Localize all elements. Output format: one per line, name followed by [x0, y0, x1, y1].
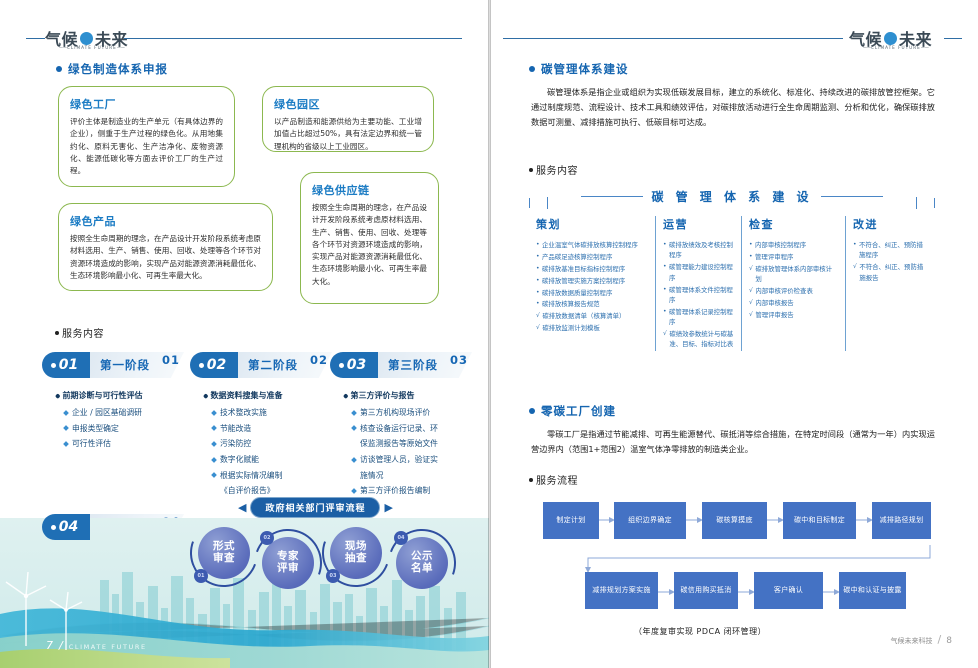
section-title-zero-carbon: 零碳工厂创建 [529, 403, 616, 419]
stage-ghost-number: 01 [162, 353, 180, 367]
cm-item-list: •不符合、纠正、预防措施程序 √不符合、纠正、预防措施报告 [853, 240, 928, 283]
list-item: •碳管理体系记录控制程序 [663, 307, 734, 328]
list-item: •碳排放核算报告规范 [536, 299, 648, 309]
page-left: 气候 未来 CLIMATE FUTURE 绿色制造体系申报 绿色工厂 评价主体是… [0, 0, 489, 668]
bullet-dot-icon [529, 408, 535, 414]
stage-01: 01 第一阶段 01 前期诊断与可行性评估 企业 / 园区基础调研 申报类型确定… [42, 352, 182, 454]
cm-item-list: •企业温室气体碳排放核算控制程序 •产品碳足迹核算控制程序 •碳排放基准目标指标… [536, 240, 648, 334]
carbon-mgmt-system-table: 碳 管 理 体 系 建 设 策划 •企业温室气体碳排放核算控制程序 •产品碳足迹… [529, 188, 935, 351]
flow-box[interactable]: 减排规划方案实施 [585, 572, 658, 609]
stage-lead: 数据资料搜集与准备 [190, 390, 330, 402]
cm-column-operate: 运营 •碳排放绩效及考核控制程序 •碳管理能力建设控制程序 •碳管理体系文件控制… [655, 216, 741, 351]
list-item: 核查设备运行记录、环 [330, 423, 475, 435]
diamond-icon [211, 472, 217, 478]
dot-icon [51, 363, 56, 368]
dot-icon [199, 363, 204, 368]
diamond-icon [351, 488, 357, 494]
stage-lead: 前期诊断与可行性评估 [42, 390, 182, 402]
stage-name: 第三阶段 [388, 357, 438, 373]
footer-left: 7 / CLIMATE FUTURE [46, 639, 147, 652]
header-rule-right-b [944, 38, 962, 39]
list-item: 第三方机构现场评价 [330, 407, 475, 419]
list-item: 节能改造 [190, 423, 330, 435]
leaf-pin-icon [80, 32, 93, 45]
stage-item-list: 数据资料搜集与准备 技术整改实施 节能改造 污染防控 数字化赋能 根据实际情况编… [190, 390, 330, 497]
card-title: 绿色供应链 [312, 182, 427, 198]
bullet-dot-icon [529, 168, 533, 172]
bullet-dot-icon [529, 66, 535, 72]
list-item: √碳排放监测计划模板 [536, 323, 648, 333]
card-body: 以产品制造和能源供给为主要功能、工业增加值占比超过50%，具有法定边界和统一管理… [274, 116, 422, 153]
section-title-green-manufacturing: 绿色制造体系申报 [56, 61, 168, 77]
intro-paragraph-zero-carbon: 零碳工厂是指通过节能减排、可再生能源替代、碳抵消等综合措施，在特定时间段（通常为… [531, 427, 935, 457]
stage-lead: 第三方评价与报告 [330, 390, 475, 402]
cm-column-plan: 策划 •企业温室气体碳排放核算控制程序 •产品碳足迹核算控制程序 •碳排放基准目… [529, 216, 655, 351]
stage-ghost-number: 02 [310, 353, 328, 367]
list-item: 保监测报告等原始文件 [330, 438, 475, 450]
bullet-dot-icon [55, 331, 59, 335]
stage-lead-text: 第三方评价与报告 [351, 390, 415, 402]
diamond-icon [63, 441, 69, 447]
cm-column-head: 检查 [749, 216, 838, 232]
stage-name: 第二阶段 [248, 357, 298, 373]
brochure-spread: 气候 未来 CLIMATE FUTURE 绿色制造体系申报 绿色工厂 评价主体是… [0, 0, 978, 668]
list-item: 技术整改实施 [190, 407, 330, 419]
stage-lead-text: 数据资料搜集与准备 [211, 390, 283, 402]
list-item: •不符合、纠正、预防措施程序 [853, 240, 928, 261]
stage-number: 04 [59, 519, 78, 535]
list-item: •碳管理能力建设控制程序 [663, 262, 734, 283]
list-item: •碳排放管理实施方案控制程序 [536, 276, 648, 286]
list-item: •内部审核控制程序 [749, 240, 838, 250]
circle-badge: 03 [326, 569, 340, 583]
intro-paragraph-carbon-mgmt: 碳管理体系是指企业或组织为实现低碳发展目标，建立的系统化、标准化、持续改进的碳排… [531, 85, 935, 131]
cm-column-head: 策划 [536, 216, 648, 232]
diamond-icon [211, 410, 217, 416]
brand-name-en-left: CLIMATE FUTURE [59, 45, 125, 50]
diamond-icon [63, 425, 69, 431]
page-right: 气候 未来 CLIMATE FUTURE 碳管理体系建设 碳管理体系是指企业或组… [489, 0, 978, 668]
flow-box[interactable]: 碳核算摸底 [702, 502, 767, 539]
footer-brand-en: CLIMATE FUTURE [69, 643, 147, 651]
brand-name-en-right: CLIMATE FUTURE [863, 45, 929, 50]
stage-name-plate: 第一阶段 01 [90, 352, 184, 378]
card-title: 绿色产品 [70, 213, 261, 229]
card-body: 按照全生命周期的理念，在产品设计开发阶段系统考虑原材料选用、生产、销售、使用、回… [70, 233, 261, 282]
dot-icon [51, 525, 56, 530]
stage-ghost-number: 03 [450, 353, 468, 367]
diamond-icon [211, 441, 217, 447]
card-body: 按照全生命周期的理念，在产品设计开发阶段系统考虑原材料选用、生产、销售、使用、回… [312, 202, 427, 288]
footer-right: 气候未来科技 / 8 [891, 633, 952, 646]
stage-number: 01 [59, 357, 78, 373]
brand-logo-left: 气候 未来 CLIMATE FUTURE [45, 26, 128, 50]
dot-icon [203, 393, 208, 398]
list-item: 《自评价报告》 [190, 485, 330, 497]
gov-flow-label: 政府相关部门评审流程 [250, 497, 380, 518]
card-green-factory: 绿色工厂 评价主体是制造业的生产单元（有具体边界的企业），侧重于生产过程的绿色化… [58, 86, 235, 187]
list-item: √碳排放管理体系内部审核计划 [749, 264, 838, 285]
bullet-dot-icon [56, 66, 62, 72]
list-item: •碳排放绩效及考核控制程序 [663, 240, 734, 261]
list-item: √内部审核报告 [749, 298, 838, 308]
review-circle-body: 专家 评审 [262, 537, 314, 589]
list-item: 施情况 [330, 470, 475, 482]
diamond-icon [211, 457, 217, 463]
cm-column-head: 改进 [853, 216, 928, 232]
dot-icon [55, 393, 60, 398]
card-green-supply-chain: 绿色供应链 按照全生命周期的理念，在产品设计开发阶段系统考虑原材料选用、生产、销… [300, 172, 439, 304]
section-title-text: 零碳工厂创建 [541, 403, 616, 419]
label-text: 服务内容 [62, 325, 104, 340]
list-item: 企业 / 园区基础调研 [42, 407, 182, 419]
arrow-right-icon: ▶ [384, 502, 392, 513]
circle-badge: 02 [260, 531, 274, 545]
label-service-content-left: 服务内容 [55, 325, 104, 340]
list-item: •碳排放基准目标指标控制程序 [536, 264, 648, 274]
dot-icon [343, 393, 348, 398]
list-item: 第三方评价报告编制 [330, 485, 475, 497]
rule-right [821, 196, 883, 197]
frame-tick-right [916, 197, 917, 209]
list-item: √碳排放数据清单（核算清单） [536, 311, 648, 321]
cm-column-check: 检查 •内部审核控制程序 •管理评审程序 √碳排放管理体系内部审核计划 √内部审… [741, 216, 845, 351]
cm-column-head: 运营 [663, 216, 734, 232]
stage-02: 02 第二阶段 02 数据资料搜集与准备 技术整改实施 节能改造 污染防控 数字… [190, 352, 330, 501]
flow-box[interactable]: 制定计划 [543, 502, 599, 539]
cm-title-text: 碳 管 理 体 系 建 设 [651, 188, 812, 205]
label-text: 服务内容 [536, 162, 578, 177]
list-item: √内部审核评价检查表 [749, 286, 838, 296]
flow-box[interactable]: 组织边界确定 [614, 502, 686, 539]
flow-box[interactable]: 客户确认 [754, 572, 823, 609]
cm-columns: 策划 •企业温室气体碳排放核算控制程序 •产品碳足迹核算控制程序 •碳排放基准目… [529, 208, 935, 351]
flow-box[interactable]: 减排路径规划 [872, 502, 931, 539]
cm-column-improve: 改进 •不符合、纠正、预防措施程序 √不符合、纠正、预防措施报告 [845, 216, 935, 351]
circle-badge: 01 [194, 569, 208, 583]
list-item: 申报类型确定 [42, 423, 182, 435]
stage-name: 第一阶段 [100, 357, 150, 373]
frame-tick-left [547, 197, 548, 209]
card-title: 绿色工厂 [70, 96, 223, 112]
diamond-icon [351, 457, 357, 463]
cm-item-list: •内部审核控制程序 •管理评审程序 √碳排放管理体系内部审核计划 √内部审核评价… [749, 240, 838, 320]
card-body: 评价主体是制造业的生产单元（有具体边界的企业），侧重于生产过程的绿色化。从用地集… [70, 116, 223, 177]
stage-lead-text: 前期诊断与可行性评估 [63, 390, 143, 402]
cm-item-list: •碳排放绩效及考核控制程序 •碳管理能力建设控制程序 •碳管理体系文件控制程序 … [663, 240, 734, 350]
stage-tag[interactable]: 03 第三阶段 03 [330, 352, 472, 378]
page-number-right: 8 [946, 636, 952, 646]
stage-number: 03 [347, 357, 366, 373]
page-gutter [488, 0, 491, 668]
diamond-icon [351, 410, 357, 416]
stage-number-badge: 03 [330, 352, 378, 378]
stage-name-plate: 第二阶段 02 [238, 352, 332, 378]
header-rule-left-b [124, 38, 462, 39]
list-item: √碳绩效参数统计与碳基准、目标、指标对比表 [663, 329, 734, 350]
section-title-carbon-mgmt: 碳管理体系建设 [529, 61, 629, 77]
list-item: •管理评审程序 [749, 252, 838, 262]
stage-name-plate: 第三阶段 03 [378, 352, 472, 378]
bullet-dot-icon [529, 478, 533, 482]
flow-box[interactable]: 碳中和认证与披露 [839, 572, 906, 609]
section-title-text: 碳管理体系建设 [541, 61, 629, 77]
flow-box[interactable]: 碳中和目标制定 [783, 502, 856, 539]
review-circle-body: 公示 名单 [396, 537, 448, 589]
flow-caption: （年度复审实现 PDCA 闭环管理） [634, 626, 766, 637]
dot-icon [339, 363, 344, 368]
rule-left [581, 196, 643, 197]
list-item: •企业温室气体碳排放核算控制程序 [536, 240, 648, 250]
gov-review-flow-banner: ◀ 政府相关部门评审流程 ▶ [238, 497, 393, 518]
stage-number-badge: 01 [42, 352, 90, 378]
section-title-text: 绿色制造体系申报 [68, 61, 168, 77]
list-item: •产品碳足迹核算控制程序 [536, 252, 648, 262]
list-item: √不符合、纠正、预防措施报告 [853, 262, 928, 283]
list-item: •碳管理体系文件控制程序 [663, 285, 734, 306]
circle-badge: 04 [394, 531, 408, 545]
stage-03: 03 第三阶段 03 第三方评价与报告 第三方机构现场评价 核查设备运行记录、环… [330, 352, 475, 501]
list-item: 根据实际情况编制 [190, 470, 330, 482]
stage-item-list: 第三方评价与报告 第三方机构现场评价 核查设备运行记录、环 保监测报告等原始文件… [330, 390, 475, 497]
card-green-product: 绿色产品 按照全生命周期的理念，在产品设计开发阶段系统考虑原材料选用、生产、销售… [58, 203, 273, 291]
footer-brand-cn: 气候未来科技 [891, 636, 933, 646]
list-item: •碳排放数据质量控制程序 [536, 288, 648, 298]
stage-tag[interactable]: 02 第二阶段 02 [190, 352, 332, 378]
page-number-left: 7 [46, 639, 54, 652]
list-item: 访谈管理人员，验证实 [330, 454, 475, 466]
header-rule-left-a [26, 38, 45, 39]
arrow-left-icon: ◀ [238, 502, 246, 513]
card-green-park: 绿色园区 以产品制造和能源供给为主要功能、工业增加值占比超过50%，具有法定边界… [262, 86, 434, 152]
stage-item-list: 前期诊断与可行性评估 企业 / 园区基础调研 申报类型确定 可行性评估 [42, 390, 182, 450]
label-service-content-right: 服务内容 [529, 162, 578, 177]
stage-tag[interactable]: 01 第一阶段 01 [42, 352, 184, 378]
slash-divider: / [59, 639, 64, 652]
label-service-flow: 服务流程 [529, 472, 578, 487]
stage-number: 02 [207, 357, 226, 373]
stage-number-badge: 02 [190, 352, 238, 378]
list-item: 污染防控 [190, 438, 330, 450]
list-item: 可行性评估 [42, 438, 182, 450]
diamond-icon [211, 425, 217, 431]
diamond-icon [351, 425, 357, 431]
header-rule-right-a [503, 38, 843, 39]
list-item: 数字化赋能 [190, 454, 330, 466]
list-item: √管理评审报告 [749, 310, 838, 320]
card-title: 绿色园区 [274, 96, 422, 112]
stage-number-badge: 04 [42, 514, 90, 540]
label-text: 服务流程 [536, 472, 578, 487]
cm-table-title: 碳 管 理 体 系 建 设 [529, 188, 935, 205]
diamond-icon [63, 410, 69, 416]
leaf-pin-icon [884, 32, 897, 45]
service-flowchart: 制定计划 组织边界确定 碳核算摸底 碳中和目标制定 减排路径规划 减排规划方案实… [527, 496, 947, 621]
slash-divider: / [938, 633, 942, 646]
brand-logo-right: 气候 未来 CLIMATE FUTURE [849, 26, 932, 50]
flow-box[interactable]: 碳信用购买抵消 [674, 572, 738, 609]
